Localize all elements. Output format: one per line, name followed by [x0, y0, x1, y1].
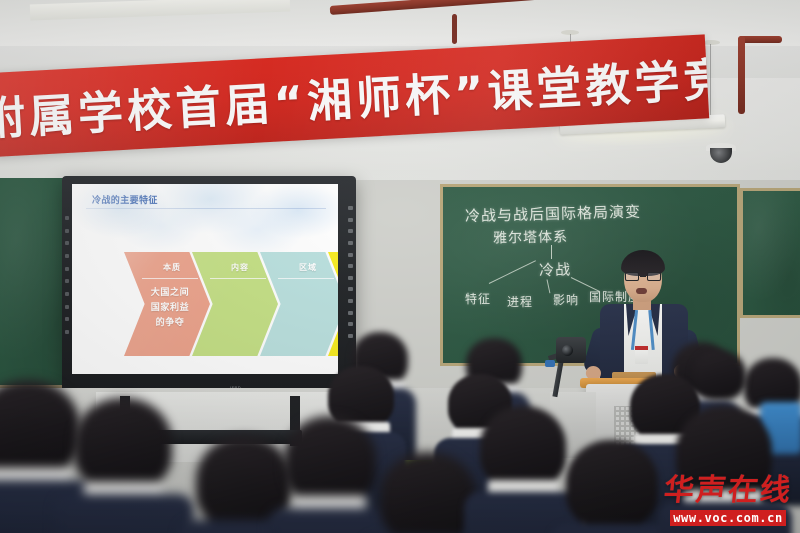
- teacher-id-badge-header: [635, 346, 648, 350]
- student-torso: [268, 508, 396, 533]
- bezel-button[interactable]: [348, 218, 353, 222]
- bezel-button[interactable]: [348, 229, 353, 233]
- camera-lens-icon: [562, 345, 573, 356]
- watermark-url: www.voc.com.cn: [670, 510, 786, 526]
- bezel-button[interactable]: [348, 264, 353, 268]
- ir-sensor: [65, 279, 69, 283]
- interactive-flat-panel-display[interactable]: 冷战的主要特征 行为 区域 内容 本质 大国之间 国家利: [62, 176, 356, 398]
- slide-title-rule: [86, 208, 326, 209]
- chalkboard-texture: [743, 191, 800, 315]
- bezel-button[interactable]: [348, 334, 353, 338]
- ir-sensor: [65, 241, 69, 245]
- chevron-rule: [210, 278, 266, 279]
- chalkboard-right-panel: [740, 188, 800, 318]
- teacher-mouth: [636, 288, 647, 294]
- student-torso: [54, 494, 194, 533]
- bezel-button[interactable]: [348, 241, 353, 245]
- display-left-sensors: [65, 216, 69, 334]
- bezel-button[interactable]: [348, 276, 353, 280]
- chevron-label-3: 区域: [260, 262, 338, 273]
- bezel-button[interactable]: [348, 311, 353, 315]
- bezel-button[interactable]: [348, 287, 353, 291]
- bezel-button[interactable]: [348, 299, 353, 303]
- student-head: [74, 398, 172, 490]
- chalk-branch-label: 进程: [507, 293, 533, 310]
- chevron-diagram: 行为 区域 内容 本质 大国之间 国家利益 的争夺: [124, 252, 338, 356]
- chevron-rule: [142, 278, 198, 279]
- student-head: [566, 440, 658, 528]
- student-head: [692, 350, 746, 400]
- chalk-arrow-icon: [551, 245, 552, 259]
- glasses-icon: [625, 272, 661, 281]
- student-head: [380, 452, 476, 533]
- chalk-branch-label: 影响: [553, 291, 579, 308]
- pipe-hanger-icon: [452, 14, 457, 44]
- ir-sensor: [65, 317, 69, 321]
- ir-sensor: [65, 254, 69, 258]
- ir-sensor: [65, 330, 69, 334]
- watermark-brand: 华声在线: [660, 474, 796, 508]
- student-head: [480, 406, 566, 488]
- chalk-subtitle: 雅尔塔体系: [493, 226, 568, 247]
- ir-sensor: [65, 292, 69, 296]
- ir-sensor: [65, 305, 69, 309]
- chalk-branch-label: 特征: [465, 290, 491, 307]
- classroom-photo: 附属学校首届“湘师杯”课堂教学竞赛 冷战与战后国际格局演变 雅尔塔体系 冷战 特…: [0, 0, 800, 533]
- display-side-buttons[interactable]: [348, 206, 353, 338]
- chalk-center-node: 冷战: [539, 258, 572, 280]
- display-screen[interactable]: 冷战的主要特征 行为 区域 内容 本质 大国之间 国家利: [72, 184, 338, 374]
- ir-sensor: [65, 229, 69, 233]
- document-camera-base: [545, 360, 555, 367]
- watermark: 华声在线 www.voc.com.cn: [662, 474, 794, 527]
- chevron-step-1: 本质 大国之间 国家利益 的争夺: [124, 252, 210, 356]
- pendant-wire: [710, 44, 711, 124]
- chevron-body-1: 大国之间 国家利益 的争夺: [138, 286, 202, 331]
- slide-title: 冷战的主要特征: [92, 193, 158, 206]
- bezel-button[interactable]: [348, 322, 353, 326]
- ir-sensor: [65, 267, 69, 271]
- chevron-rule: [278, 278, 334, 279]
- ir-sensor: [65, 216, 69, 220]
- student-head: [284, 416, 376, 504]
- bezel-button[interactable]: [348, 206, 353, 210]
- pipe-drop-icon: [738, 36, 745, 114]
- bezel-button[interactable]: [348, 253, 353, 257]
